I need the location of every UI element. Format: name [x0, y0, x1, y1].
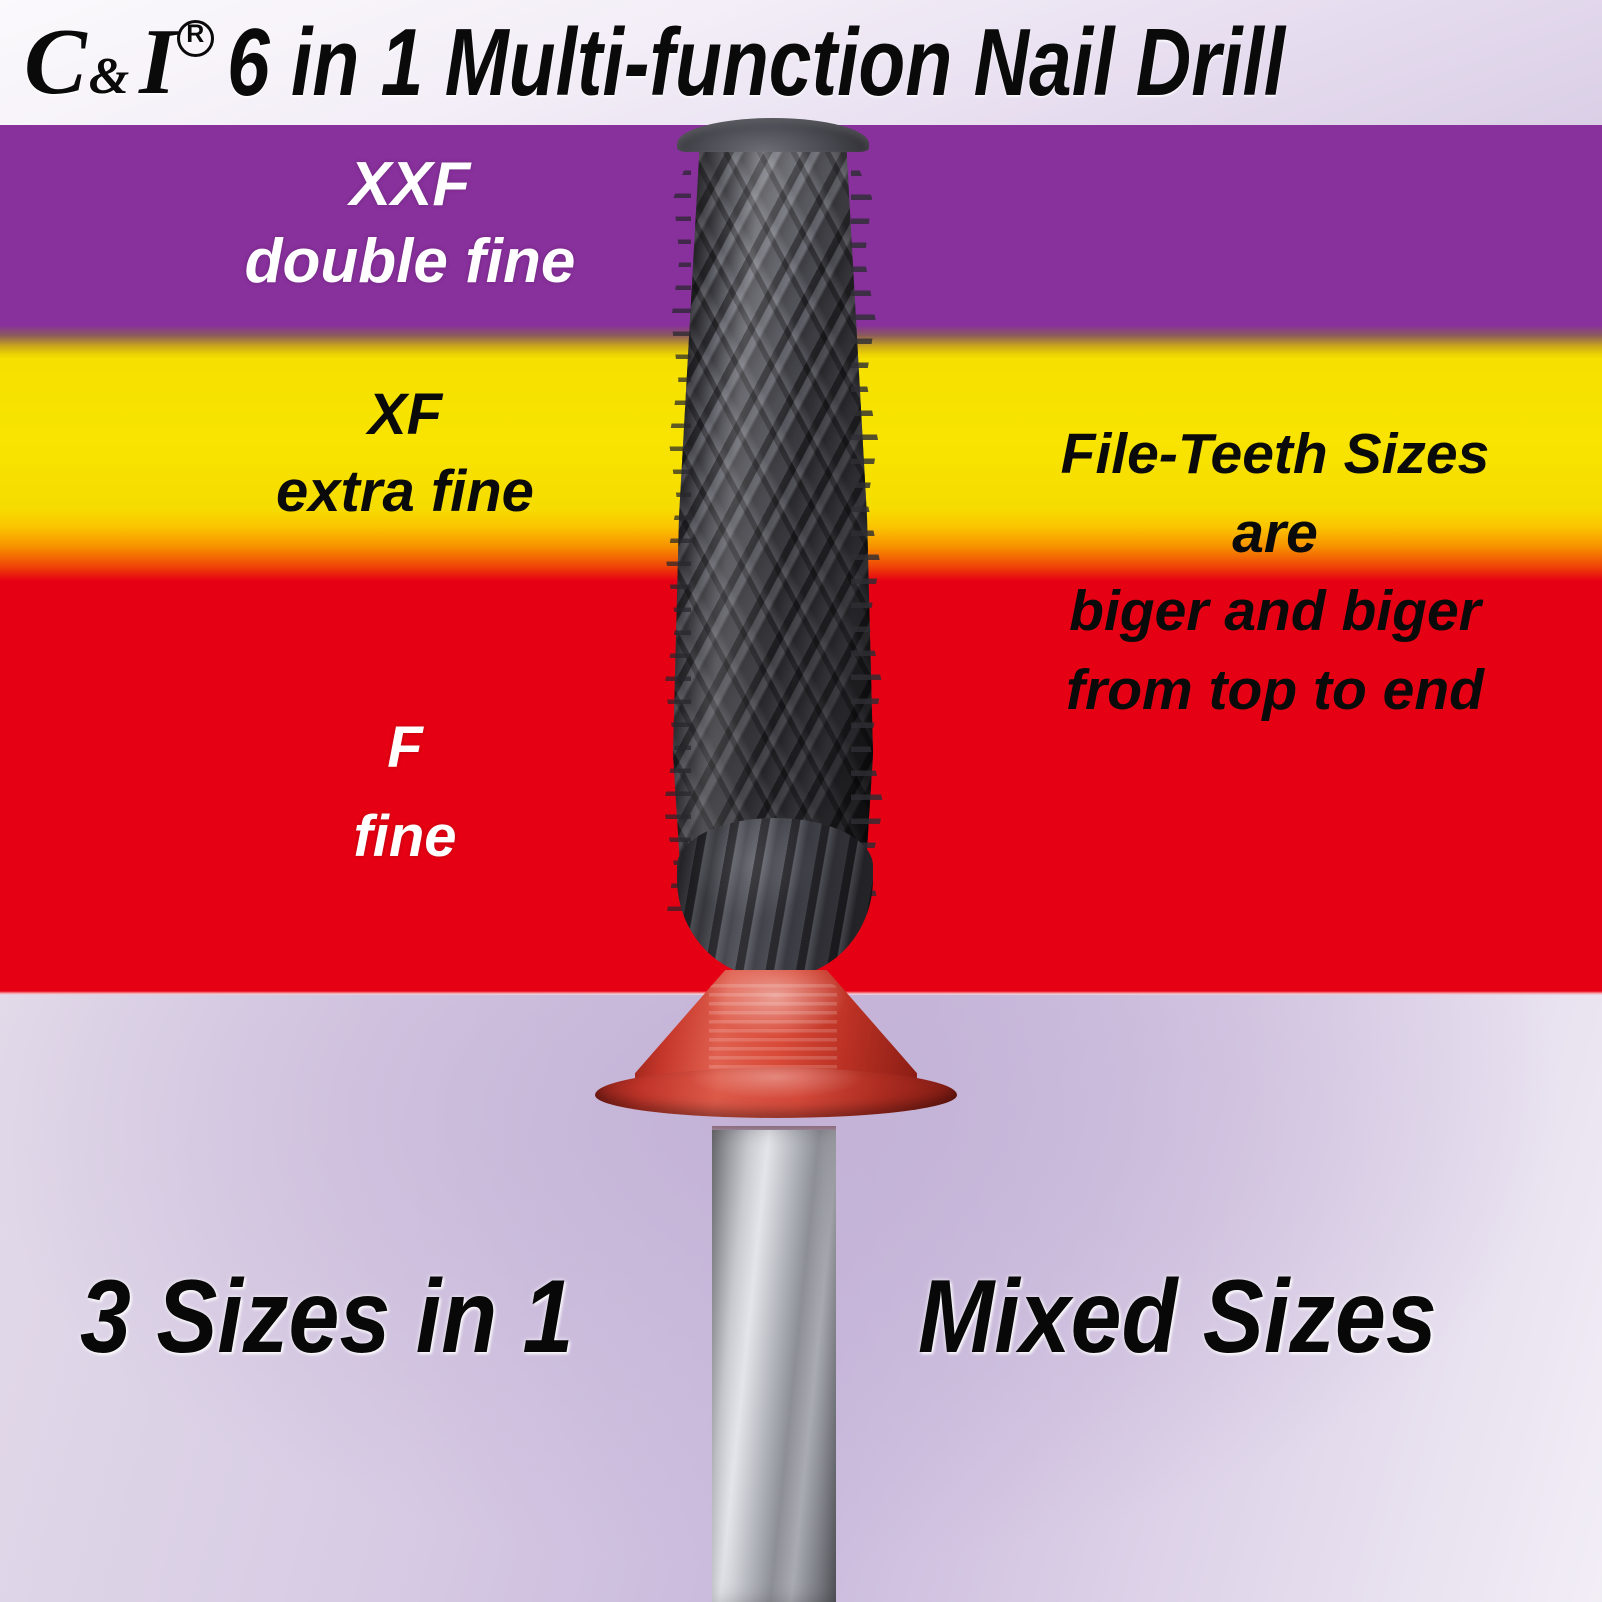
collar-base-lip	[595, 1068, 957, 1118]
registered-trademark-icon: R	[177, 20, 214, 57]
steel-shank	[712, 1130, 836, 1602]
brand-letter-c: C	[24, 20, 85, 105]
carbide-nail-drill-bit	[565, 118, 985, 1168]
page-title: 6 in 1 Multi-function Nail Drill	[227, 8, 1285, 118]
bit-fluted-body	[673, 122, 873, 912]
info-line-3: biger and biger	[950, 572, 1600, 651]
bit-bottom-dome	[677, 818, 873, 978]
header: C & I R 6 in 1 Multi-function Nail Drill	[0, 0, 1602, 125]
bit-right-teeth-silhouette	[851, 152, 885, 912]
caption-sizes-in-one: 3 Sizes in 1	[80, 1258, 573, 1377]
bit-dome-flutes	[677, 818, 873, 978]
brand-logo: C & I R	[24, 20, 213, 106]
bit-left-teeth-silhouette	[661, 152, 691, 912]
bit-shading	[673, 122, 873, 912]
caption-mixed-sizes: Mixed Sizes	[918, 1258, 1437, 1377]
file-teeth-info-block: File-Teeth Sizes are biger and biger fro…	[950, 415, 1600, 730]
info-line-2: are	[950, 494, 1600, 573]
brand-letter-i: I	[133, 20, 176, 105]
product-image: C & I R 6 in 1 Multi-function Nail Drill…	[0, 0, 1602, 1602]
brand-ampersand: &	[85, 47, 133, 106]
info-line-4: from top to end	[950, 651, 1600, 730]
info-line-1: File-Teeth Sizes	[950, 415, 1600, 494]
red-rubber-collar	[579, 970, 971, 1120]
